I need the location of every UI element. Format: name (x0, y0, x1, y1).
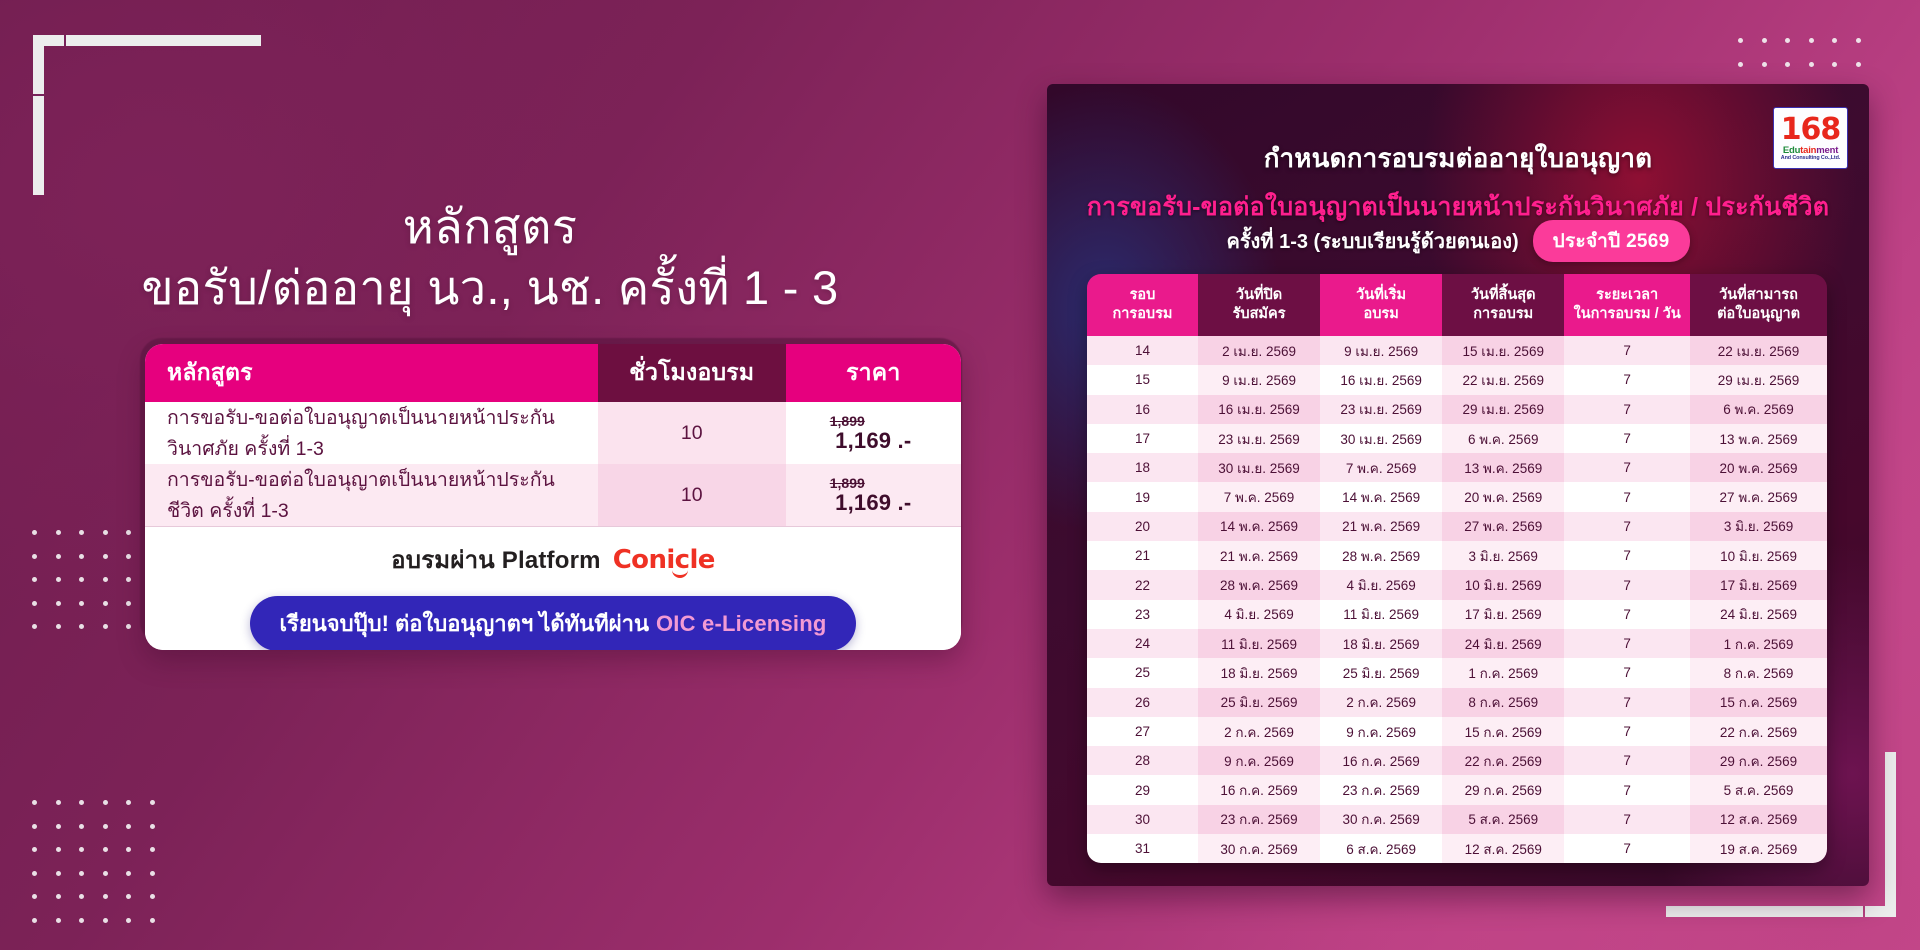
schedule-cell-4: 7 (1564, 453, 1690, 482)
elicensing-pill[interactable]: เรียนจบปุ๊บ! ต่อใบอนุญาตฯ ได้ทันทีผ่าน O… (250, 596, 857, 651)
schedule-cell-0: 31 (1087, 834, 1198, 863)
schedule-cell-5: 24 มิ.ย. 2569 (1690, 600, 1827, 629)
header-line2: อบรม (1324, 305, 1438, 324)
dot (1738, 62, 1743, 67)
schedule-cell-5: 19 ส.ค. 2569 (1690, 834, 1827, 863)
platform-row: อบรมผ่าน Platform Conicle (145, 526, 961, 592)
schedule-cell-0: 21 (1087, 541, 1198, 570)
schedule-cell-3: 8 ก.ค. 2569 (1442, 688, 1564, 717)
schedule-cell-1: 18 มิ.ย. 2569 (1198, 658, 1320, 687)
table-row: การขอรับ-ขอต่อใบอนุญาตเป็นนายหน้าประกันช… (145, 464, 961, 526)
schedule-cell-2: 18 มิ.ย. 2569 (1320, 629, 1442, 658)
schedule-cell-3: 22 ก.ค. 2569 (1442, 746, 1564, 775)
table-row: 3023 ก.ค. 256930 ก.ค. 25695 ส.ค. 2569712… (1087, 805, 1827, 834)
schedule-cell-4: 7 (1564, 482, 1690, 511)
schedule-cell-0: 29 (1087, 775, 1198, 804)
course-table: หลักสูตร ชั่วโมงอบรม ราคา การขอรับ-ขอต่อ… (145, 344, 961, 526)
schedule-cell-2: 30 เม.ย. 2569 (1320, 424, 1442, 453)
schedule-cell-1: 14 พ.ค. 2569 (1198, 512, 1320, 541)
schedule-cell-1: 23 ก.ค. 2569 (1198, 805, 1320, 834)
price-wrap: 1,8991,169 .- (786, 476, 961, 514)
header-line2: การอบรม (1446, 305, 1560, 324)
schedule-cell-1: 30 เม.ย. 2569 (1198, 453, 1320, 482)
price-discounted: 1,169 .- (786, 430, 961, 452)
schedule-cell-1: 16 เม.ย. 2569 (1198, 395, 1320, 424)
schedule-cell-1: 28 พ.ค. 2569 (1198, 570, 1320, 599)
cell-hours: 10 (598, 464, 786, 526)
schedule-cell-3: 29 ก.ค. 2569 (1442, 775, 1564, 804)
table-row: 2014 พ.ค. 256921 พ.ค. 256927 พ.ค. 256973… (1087, 512, 1827, 541)
schedule-cell-2: 2 ก.ค. 2569 (1320, 688, 1442, 717)
schedule-cell-3: 10 มิ.ย. 2569 (1442, 570, 1564, 599)
schedule-title-line1: กำหนดการอบรมต่ออายุใบอนุญาต (1264, 143, 1652, 173)
platform-label: อบรมผ่าน Platform (391, 540, 601, 579)
dot (1809, 62, 1814, 67)
cell-price: 1,8991,169 .- (786, 464, 961, 526)
header-line1: วันที่เริ่ม (1324, 286, 1438, 305)
schedule-cell-4: 7 (1564, 717, 1690, 746)
schedule-cell-2: 4 มิ.ย. 2569 (1320, 570, 1442, 599)
schedule-cell-0: 17 (1087, 424, 1198, 453)
schedule-col-header-2: วันที่เริ่มอบรม (1320, 274, 1442, 336)
conicle-logo: Conicle (613, 545, 715, 575)
schedule-cell-3: 5 ส.ค. 2569 (1442, 805, 1564, 834)
schedule-cell-0: 22 (1087, 570, 1198, 599)
price-original: 1,899 (760, 414, 935, 428)
schedule-panel: 168 Edutainment And Consulting Co.,Ltd. … (1047, 84, 1869, 886)
schedule-cell-2: 6 ส.ค. 2569 (1320, 834, 1442, 863)
schedule-cell-2: 23 เม.ย. 2569 (1320, 395, 1442, 424)
bracket-vertical (1885, 752, 1896, 917)
schedule-cell-3: 20 พ.ค. 2569 (1442, 482, 1564, 511)
schedule-col-header-1: วันที่ปิดรับสมัคร (1198, 274, 1320, 336)
schedule-cell-5: 6 พ.ค. 2569 (1690, 395, 1827, 424)
schedule-subtitle: ครั้งที่ 1-3 (ระบบเรียนรู้ด้วยตนเอง) (1226, 225, 1518, 257)
schedule-cell-2: 23 ก.ค. 2569 (1320, 775, 1442, 804)
dot (1856, 38, 1861, 43)
header-line1: วันที่สามารถ (1694, 286, 1823, 305)
price-original: 1,899 (760, 476, 935, 490)
header-line2: ต่อใบอนุญาต (1694, 305, 1823, 324)
table-row: 142 เม.ย. 25699 เม.ย. 256915 เม.ย. 25697… (1087, 336, 1827, 365)
price-wrap: 1,8991,169 .- (786, 414, 961, 452)
dot (1762, 38, 1767, 43)
schedule-cell-2: 16 เม.ย. 2569 (1320, 365, 1442, 394)
header-line2: ในการอบรม / วัน (1568, 305, 1686, 324)
schedule-cell-0: 14 (1087, 336, 1198, 365)
table-row: 159 เม.ย. 256916 เม.ย. 256922 เม.ย. 2569… (1087, 365, 1827, 394)
schedule-cell-5: 27 พ.ค. 2569 (1690, 482, 1827, 511)
course-table-header-row: หลักสูตร ชั่วโมงอบรม ราคา (145, 344, 961, 402)
schedule-cell-0: 15 (1087, 365, 1198, 394)
bracket-horizontal (1666, 906, 1896, 917)
table-row: 1830 เม.ย. 25697 พ.ค. 256913 พ.ค. 256972… (1087, 453, 1827, 482)
table-row: 2625 มิ.ย. 25692 ก.ค. 25698 ก.ค. 2569715… (1087, 688, 1827, 717)
schedule-cell-3: 15 เม.ย. 2569 (1442, 336, 1564, 365)
schedule-cell-5: 22 ก.ค. 2569 (1690, 717, 1827, 746)
schedule-cell-0: 30 (1087, 805, 1198, 834)
price-discounted: 1,169 .- (786, 492, 961, 514)
dot (1809, 38, 1814, 43)
schedule-cell-4: 7 (1564, 336, 1690, 365)
page-title: หลักสูตร ขอรับ/ต่ออายุ นว., นช. ครั้งที่… (60, 196, 920, 318)
schedule-cell-4: 7 (1564, 512, 1690, 541)
schedule-cell-4: 7 (1564, 805, 1690, 834)
schedule-cell-0: 16 (1087, 395, 1198, 424)
schedule-cell-4: 7 (1564, 365, 1690, 394)
schedule-cell-0: 23 (1087, 600, 1198, 629)
schedule-cell-5: 15 ก.ค. 2569 (1690, 688, 1827, 717)
schedule-cell-4: 7 (1564, 688, 1690, 717)
header-line2: รับสมัคร (1202, 305, 1316, 324)
schedule-cell-4: 7 (1564, 600, 1690, 629)
schedule-subtitle-row: ครั้งที่ 1-3 (ระบบเรียนรู้ด้วยตนเอง) ประ… (1047, 220, 1869, 262)
schedule-cell-4: 7 (1564, 541, 1690, 570)
schedule-cell-0: 24 (1087, 629, 1198, 658)
table-row: 1616 เม.ย. 256923 เม.ย. 256929 เม.ย. 256… (1087, 395, 1827, 424)
header-line1: รอบ (1091, 286, 1194, 305)
cell-price: 1,8991,169 .- (786, 402, 961, 464)
cell-course: การขอรับ-ขอต่อใบอนุญาตเป็นนายหน้าประกันว… (145, 402, 598, 464)
schedule-cell-4: 7 (1564, 395, 1690, 424)
table-row: 2916 ก.ค. 256923 ก.ค. 256929 ก.ค. 256975… (1087, 775, 1827, 804)
schedule-cell-5: 22 เม.ย. 2569 (1690, 336, 1827, 365)
schedule-cell-0: 18 (1087, 453, 1198, 482)
schedule-table: รอบการอบรมวันที่ปิดรับสมัครวันที่เริ่มอบ… (1087, 274, 1827, 863)
schedule-cell-5: 12 ส.ค. 2569 (1690, 805, 1827, 834)
cell-hours: 10 (598, 402, 786, 464)
header-line1: ระยะเวลา (1568, 286, 1686, 305)
table-row: 1723 เม.ย. 256930 เม.ย. 25696 พ.ค. 25697… (1087, 424, 1827, 453)
header-line2: การอบรม (1091, 305, 1194, 324)
table-row: 3130 ก.ค. 25696 ส.ค. 256912 ส.ค. 2569719… (1087, 834, 1827, 863)
schedule-cell-5: 29 เม.ย. 2569 (1690, 365, 1827, 394)
table-row: 2228 พ.ค. 25694 มิ.ย. 256910 มิ.ย. 25697… (1087, 570, 1827, 599)
schedule-cell-0: 20 (1087, 512, 1198, 541)
schedule-cell-5: 3 มิ.ย. 2569 (1690, 512, 1827, 541)
schedule-cell-3: 22 เม.ย. 2569 (1442, 365, 1564, 394)
col-header-course: หลักสูตร (145, 344, 598, 402)
schedule-cell-1: 2 ก.ค. 2569 (1198, 717, 1320, 746)
schedule-cell-1: 25 มิ.ย. 2569 (1198, 688, 1320, 717)
dot (1832, 62, 1837, 67)
table-row: 2518 มิ.ย. 256925 มิ.ย. 25691 ก.ค. 25697… (1087, 658, 1827, 687)
schedule-cell-5: 5 ส.ค. 2569 (1690, 775, 1827, 804)
schedule-cell-3: 17 มิ.ย. 2569 (1442, 600, 1564, 629)
schedule-cell-1: 16 ก.ค. 2569 (1198, 775, 1320, 804)
cta-row: เรียนจบปุ๊บ! ต่อใบอนุญาตฯ ได้ทันทีผ่าน O… (145, 592, 961, 650)
bracket-gap (1863, 906, 1865, 917)
schedule-cell-4: 7 (1564, 629, 1690, 658)
schedule-cell-5: 29 ก.ค. 2569 (1690, 746, 1827, 775)
schedule-col-header-4: ระยะเวลาในการอบรม / วัน (1564, 274, 1690, 336)
schedule-cell-5: 1 ก.ค. 2569 (1690, 629, 1827, 658)
table-row: 289 ก.ค. 256916 ก.ค. 256922 ก.ค. 2569729… (1087, 746, 1827, 775)
schedule-cell-3: 3 มิ.ย. 2569 (1442, 541, 1564, 570)
year-badge: ประจำปี 2569 (1533, 220, 1690, 262)
schedule-cell-0: 27 (1087, 717, 1198, 746)
schedule-cell-2: 7 พ.ค. 2569 (1320, 453, 1442, 482)
schedule-cell-2: 16 ก.ค. 2569 (1320, 746, 1442, 775)
schedule-cell-1: 30 ก.ค. 2569 (1198, 834, 1320, 863)
schedule-cell-0: 28 (1087, 746, 1198, 775)
dot (1785, 62, 1790, 67)
schedule-cell-1: 7 พ.ค. 2569 (1198, 482, 1320, 511)
schedule-cell-4: 7 (1564, 658, 1690, 687)
col-header-price: ราคา (786, 344, 961, 402)
schedule-cell-4: 7 (1564, 834, 1690, 863)
dot (1856, 62, 1861, 67)
schedule-cell-1: 23 เม.ย. 2569 (1198, 424, 1320, 453)
schedule-cell-0: 19 (1087, 482, 1198, 511)
col-header-hours: ชั่วโมงอบรม (598, 344, 786, 402)
table-row: การขอรับ-ขอต่อใบอนุญาตเป็นนายหน้าประกันว… (145, 402, 961, 464)
schedule-cell-5: 8 ก.ค. 2569 (1690, 658, 1827, 687)
page-title-line2: ขอรับ/ต่ออายุ นว., นช. ครั้งที่ 1 - 3 (60, 257, 920, 318)
schedule-cell-3: 13 พ.ค. 2569 (1442, 453, 1564, 482)
header-line1: วันที่สิ้นสุด (1446, 286, 1560, 305)
table-row: 2121 พ.ค. 256928 พ.ค. 25693 มิ.ย. 256971… (1087, 541, 1827, 570)
schedule-cell-2: 25 มิ.ย. 2569 (1320, 658, 1442, 687)
schedule-cell-1: 4 มิ.ย. 2569 (1198, 600, 1320, 629)
schedule-cell-1: 2 เม.ย. 2569 (1198, 336, 1320, 365)
schedule-cell-1: 9 เม.ย. 2569 (1198, 365, 1320, 394)
dot (1785, 38, 1790, 43)
schedule-cell-3: 1 ก.ค. 2569 (1442, 658, 1564, 687)
schedule-cell-5: 20 พ.ค. 2569 (1690, 453, 1827, 482)
schedule-cell-3: 24 มิ.ย. 2569 (1442, 629, 1564, 658)
pill-text: เรียนจบปุ๊บ! ต่อใบอนุญาตฯ ได้ทันทีผ่าน (280, 606, 649, 641)
page-title-line1: หลักสูตร (60, 196, 920, 257)
schedule-col-header-5: วันที่สามารถต่อใบอนุญาต (1690, 274, 1827, 336)
schedule-cell-4: 7 (1564, 775, 1690, 804)
table-row: 234 มิ.ย. 256911 มิ.ย. 256917 มิ.ย. 2569… (1087, 600, 1827, 629)
schedule-cell-5: 17 มิ.ย. 2569 (1690, 570, 1827, 599)
schedule-cell-1: 11 มิ.ย. 2569 (1198, 629, 1320, 658)
schedule-cell-4: 7 (1564, 424, 1690, 453)
schedule-title: กำหนดการอบรมต่ออายุใบอนุญาต การขอรับ-ขอต… (1047, 138, 1869, 227)
header-line1: วันที่ปิด (1202, 286, 1316, 305)
dot (1832, 38, 1837, 43)
schedule-cell-4: 7 (1564, 746, 1690, 775)
schedule-cell-5: 13 พ.ค. 2569 (1690, 424, 1827, 453)
schedule-cell-3: 12 ส.ค. 2569 (1442, 834, 1564, 863)
schedule-cell-2: 30 ก.ค. 2569 (1320, 805, 1442, 834)
schedule-cell-0: 25 (1087, 658, 1198, 687)
schedule-cell-5: 10 มิ.ย. 2569 (1690, 541, 1827, 570)
schedule-cell-3: 6 พ.ค. 2569 (1442, 424, 1564, 453)
schedule-cell-2: 9 เม.ย. 2569 (1320, 336, 1442, 365)
dot (1738, 38, 1743, 43)
schedule-cell-2: 14 พ.ค. 2569 (1320, 482, 1442, 511)
dot (1762, 62, 1767, 67)
schedule-cell-3: 15 ก.ค. 2569 (1442, 717, 1564, 746)
course-card: หลักสูตร ชั่วโมงอบรม ราคา การขอรับ-ขอต่อ… (145, 344, 961, 650)
table-row: 197 พ.ค. 256914 พ.ค. 256920 พ.ค. 2569727… (1087, 482, 1827, 511)
schedule-cell-0: 26 (1087, 688, 1198, 717)
schedule-header-row: รอบการอบรมวันที่ปิดรับสมัครวันที่เริ่มอบ… (1087, 274, 1827, 336)
table-row: 2411 มิ.ย. 256918 มิ.ย. 256924 มิ.ย. 256… (1087, 629, 1827, 658)
schedule-col-header-3: วันที่สิ้นสุดการอบรม (1442, 274, 1564, 336)
schedule-cell-2: 28 พ.ค. 2569 (1320, 541, 1442, 570)
schedule-cell-1: 9 ก.ค. 2569 (1198, 746, 1320, 775)
schedule-cell-2: 11 มิ.ย. 2569 (1320, 600, 1442, 629)
cell-course: การขอรับ-ขอต่อใบอนุญาตเป็นนายหน้าประกันช… (145, 464, 598, 526)
schedule-table-wrap: รอบการอบรมวันที่ปิดรับสมัครวันที่เริ่มอบ… (1087, 274, 1827, 863)
schedule-cell-1: 21 พ.ค. 2569 (1198, 541, 1320, 570)
schedule-cell-2: 21 พ.ค. 2569 (1320, 512, 1442, 541)
schedule-col-header-0: รอบการอบรม (1087, 274, 1198, 336)
schedule-cell-2: 9 ก.ค. 2569 (1320, 717, 1442, 746)
table-row: 272 ก.ค. 25699 ก.ค. 256915 ก.ค. 2569722 … (1087, 717, 1827, 746)
schedule-cell-3: 29 เม.ย. 2569 (1442, 395, 1564, 424)
pill-highlight: OIC e-Licensing (656, 611, 826, 637)
schedule-cell-3: 27 พ.ค. 2569 (1442, 512, 1564, 541)
left-panel: หลักสูตร ขอรับ/ต่ออายุ นว., นช. ครั้งที่… (0, 0, 980, 950)
schedule-cell-4: 7 (1564, 570, 1690, 599)
